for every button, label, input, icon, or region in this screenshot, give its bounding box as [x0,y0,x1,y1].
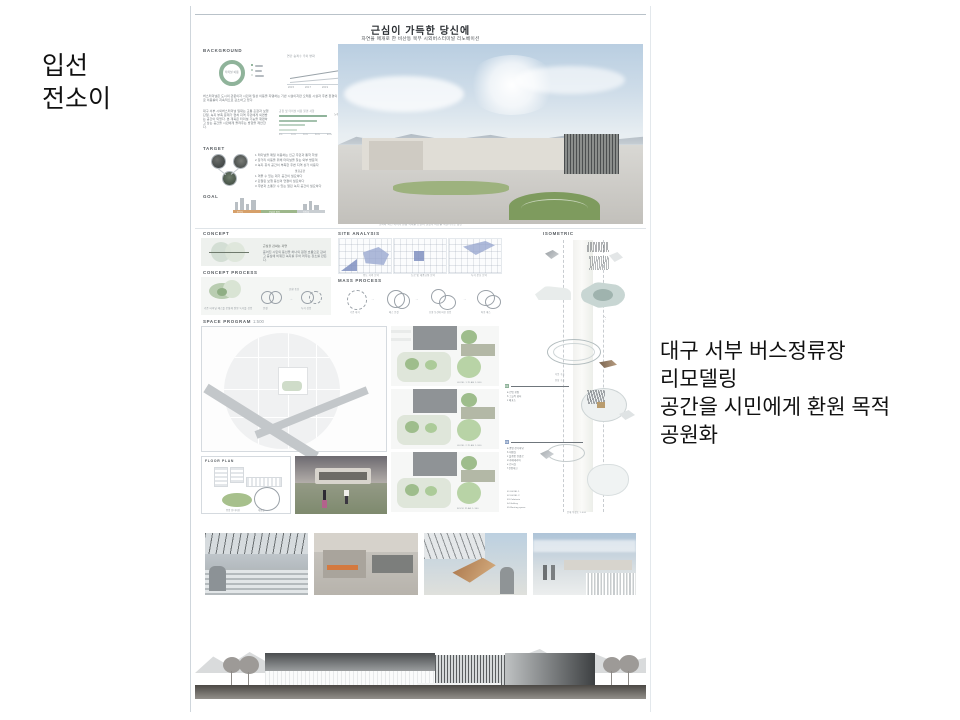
site-elevation-drawing [195,629,646,699]
site-analysis-caption-3: 녹지 분포 분석 [471,273,487,277]
site-analysis-map-1 [338,238,392,274]
photo-4-canopy [564,560,632,570]
space-program-panel [201,326,387,452]
goal-zone-3 [297,210,325,213]
mass-arrow-1-icon: → [371,297,375,301]
elevation-tree-4-trunk [628,671,629,685]
elevation-roof-band-left [265,653,435,671]
bar-4 [279,129,297,131]
donut-legend-swatch-1 [251,64,253,66]
isometric-floor-highlight [597,402,605,408]
line-chart-tick-2: 2017 [305,86,311,89]
hero-lawn-1 [393,181,509,195]
mass-step-label-3: 보행 동선에 따른 삽입 [429,310,451,314]
section-label-concept: CONCEPT [203,231,229,236]
render-photo-row [205,533,636,595]
site-plan-caption-1: LEVEL 1 PLAN 1:300 [457,382,482,384]
section-label-background: BACKGROUND [203,48,242,53]
sp-grid-h1 [224,357,340,358]
floor-plan-block-2 [230,467,244,483]
floor-plan-label-2: 대합실 [258,508,265,512]
space-program-text: SPACE PROGRAM [203,319,251,324]
sp-grid-h3 [224,417,340,418]
hero-amphitheater-steps [521,199,588,218]
site-plan-caption-2: LEVEL 2 PLAN 1:300 [457,445,482,447]
photo-2-soffit [314,533,417,552]
cp-step-shape-4 [309,291,322,304]
goal-zone-label-3: 터미널 [303,211,309,214]
mass-step-shape-1 [347,290,367,310]
site-plan-1-street-1 [391,330,411,333]
donut-center-label: 터미널 이용 [225,70,239,74]
photo-2-opening [372,555,413,572]
legend-marker-2-label: 02 [505,441,508,444]
architecture-poster: 근심이 가득한 당신에 자연을 매개로 한 비산동 북부 시외버스터미널 리노베… [190,6,651,712]
site-plan-3-building [413,452,457,476]
target-photo-2 [233,154,248,169]
render-photo-2 [314,533,417,595]
elevation-tree-1-trunk [231,671,232,685]
photo-3-canopy [424,533,486,559]
render-figure-2-top [344,490,349,496]
goal-building-5 [303,204,307,210]
map-highlight-2a [414,251,424,261]
elevation-ground [195,685,646,699]
poster-title: 근심이 가득한 당신에 [195,22,646,37]
floor-plan-panel: FLOOR PLAN 중앙 잔디마당 대합실 [201,456,291,514]
bar-2 [279,120,317,122]
site-plan-caption-3: ROOF PLAN 1:300 [457,508,479,510]
hero-render [338,44,643,224]
cp-step-label-2: 녹지 삽입 [301,306,311,310]
site-plan-2-building [413,389,457,413]
photo-1-ceiling [205,533,308,554]
isometric-ring-2 [553,343,595,361]
concept-process-panel: 기존 터미널 매스를 분절해 원형 녹지를 삽입 → 분절 녹지 삽입 순환 동… [201,277,331,315]
render-photo-3 [424,533,527,595]
sp-green-area [282,381,302,391]
isometric-sunburst [593,316,615,332]
sp-grid-v3 [316,333,317,449]
isometric-note-2: 천창 구조 [555,378,565,382]
mass-arrow-2-icon: → [415,297,419,301]
concept-body: 흩어진 시민의 동선을 하나의 원형 흐름으로 감싸고 중심에 비워진 녹지를 … [263,250,327,262]
elevation-fins-center [435,655,505,685]
photo-1-figure [209,566,226,591]
site-analysis-map-3 [448,238,502,274]
mass-step-shape-2b [394,293,410,309]
elevation-tree-4-canopy [619,655,639,673]
site-plan-2-tree-cluster-3 [461,393,477,407]
photo-3-figure [500,567,514,594]
photo-2-column [323,550,366,577]
site-plan-1-tree-cluster-2 [425,360,437,370]
background-paragraph-2: 대구 서부 시외버스터미널 일대는 교통 혼잡과 보행 단절, 녹지 부족 문제… [203,109,269,143]
legend-group-2-item-6: f 전망데크 [507,467,547,472]
site-plan-3-tree-cluster-3 [461,456,477,470]
hero-building-right-louvers [564,134,619,174]
site-plan-1-tree-cluster-3 [461,330,477,344]
elevation-mass-right [505,653,595,685]
bar-tick-5: 40% [327,134,332,136]
mass-step-shape-4b [485,295,501,309]
section-label-space-program: SPACE PROGRAM 1:500 [203,319,264,324]
goal-building-2 [240,198,244,210]
divider-above-concept [195,228,646,229]
isometric-roof-louvers [587,242,609,252]
isometric-roof-disc-core [593,289,613,301]
bar-tick-1: 0% [279,134,283,136]
concept-panel: 근심을 감싸는 자연 흩어진 시민의 동선을 하나의 원형 흐름으로 감싸고 중… [201,238,331,266]
photo-4-figure-2 [551,565,555,580]
site-analysis-caption-2: 도로 및 대중교통 분석 [411,273,435,277]
goal-building-3 [246,204,249,210]
elevation-tree-2-trunk [248,672,249,685]
photo-4-figure-1 [543,565,547,580]
site-plan-3-plaza [457,482,481,504]
floor-plan-lawn [222,493,252,507]
scale-item-5: 05 Resting space [507,506,553,511]
poster-subtitle: 자연을 매개로 한 비산동 북부 시외버스터미널 리노베이션 [195,36,646,42]
isometric-ground-disc [587,464,629,496]
legend-group-1-item-3: c 매표소 [507,399,547,404]
elevation-tree-2-canopy [239,656,259,674]
background-paragraph-1: 버스터미널은 도시의 관문이자 시민의 일상 이동을 지탱하는 기반 시설이지만… [203,94,349,104]
space-program-scale: 1:500 [253,319,264,324]
floor-plan-label-1: 중앙 잔디마당 [226,508,240,512]
poster-top-rule [195,14,646,15]
line-chart-tick-3: 2019 [322,86,328,89]
render-lawn [295,483,387,514]
elevation-tree-3-trunk [611,671,612,685]
site-plan-1 [391,326,499,386]
isometric-piece-right-1 [609,252,623,262]
photo-2-bench [327,565,358,570]
site-plan-1-road [461,344,495,356]
concept-heading: 근심을 감싸는 자연 [263,244,287,248]
isometric-note-1: 지붕 구조 [555,372,565,376]
bar-tick-4: 30% [315,134,320,136]
legend-marker-1-label: 01 [505,385,508,388]
cp-step-label-1: 분절 [263,306,268,310]
render-building-glass [319,472,367,480]
goal-building-7 [314,205,319,210]
bar-1 [279,115,327,117]
site-plan-2-tree-cluster-2 [425,423,437,433]
floor-plan-block-1 [214,467,228,487]
bar-chart-title: 공항 및 터미널 이용 불편 사항 [279,109,315,113]
photo-4-fins [586,573,636,595]
hero-cloud-2 [515,66,625,94]
render-photo-4 [533,533,636,595]
isometric-ring-3 [547,444,585,462]
goal-building-4 [251,200,256,210]
floor-plan-render [295,456,387,514]
site-plan-1-street-2 [391,338,411,341]
site-plan-2-road [461,407,495,419]
cp-arrow-icon: → [289,296,293,301]
site-plan-2 [391,389,499,449]
section-label-concept-process: CONCEPT PROCESS [203,270,258,275]
isometric-guide-left [563,240,564,512]
mass-step-shape-3b [439,295,456,310]
cp-step-shape-2 [269,291,282,304]
line-chart-tick-1: 2015 [288,86,294,89]
section-label-isometric: ISOMETRIC [543,231,574,236]
elevation-glazing-left [265,671,435,685]
floor-plan-block-3 [246,477,282,487]
target-mid-label: 필요공간 [295,169,305,173]
legend-callout-line-1 [511,386,569,387]
bar-tick-3: 20% [303,134,308,136]
site-plan-3-tree-cluster-2 [425,486,437,496]
section-label-goal: GOAL [203,194,218,199]
donut-legend-text-1 [255,65,263,67]
cp-step-note: 순환 동선 [289,287,299,291]
bar-tick-2: 10% [291,134,296,136]
award-and-author-caption: 입선 전소이 [42,50,111,116]
site-plan-2-tree-cluster-1 [405,421,419,433]
site-plan-3-road [461,470,495,482]
mass-step-label-1: 기존 대지 [350,310,360,314]
isometric-deck-plate [599,360,617,368]
poster-inner: 근심이 가득한 당신에 자연을 매개로 한 비산동 북부 시외버스터미널 리노베… [195,12,646,710]
isometric-skylight-fins [589,256,609,270]
project-description-caption: 대구 서부 버스정류장 리모델링 공간을 시민에게 환원 목적 공원화 [660,338,890,450]
concept-process-caption: 기존 터미널 매스를 분절해 원형 녹지를 삽입 [204,306,252,310]
concept-axis-line [209,252,249,253]
donut-legend-text-3 [255,75,264,77]
mass-step-label-2: 매스 분절 [389,310,399,314]
render-photo-1 [205,533,308,595]
goal-zone-label-1: 주거지 [237,211,243,214]
photo-4-clouds [533,540,636,551]
hero-building-left-wing [369,141,424,170]
site-plan-1-plaza [457,356,481,378]
legend-callout-line-2 [511,442,583,443]
section-label-mass-process: MASS PROCESS [338,278,382,283]
line-chart-series-2 [290,77,344,82]
concept-process-blob-3 [217,288,227,296]
site-plan-3-tree-cluster-1 [405,484,419,496]
section-label-target: TARGET [203,146,225,151]
site-plan-3 [391,452,499,512]
site-analysis-map-2 [393,238,447,274]
site-plan-2-plaza [457,419,481,441]
site-plan-1-building [413,326,457,350]
section-label-site-analysis: SITE ANALYSIS [338,231,380,236]
goal-building-6 [309,201,312,210]
site-plan-1-tree-cluster-1 [405,358,419,370]
goal-zone-label-2: 공원화 영역 [269,211,280,214]
isometric-canopy-left [535,286,571,300]
render-figure-1-skirt [322,500,327,508]
target-item-bottom-3: 3 주변과 소통할 수 있는 열린 녹지 공간이 필요하다 [255,184,350,189]
isometric-piece-top-left [545,250,559,259]
section-label-floor-plan: FLOOR PLAN [205,459,234,463]
donut-legend-swatch-2 [251,69,253,71]
target-photo-1 [211,154,226,169]
bar-3 [279,124,305,126]
donut-legend-text-2 [255,70,262,72]
isometric-caption: 분해 투상도 1:400 [567,510,586,514]
mass-step-label-4: 최종 매스 [481,310,491,314]
donut-legend-swatch-3 [251,74,253,76]
line-chart-title: 연간 승객수 추이 변화 [287,54,315,58]
site-analysis-caption-1: 용도 지역 분석 [363,273,379,277]
mass-arrow-3-icon: → [463,297,467,301]
goal-building-1 [235,202,238,210]
